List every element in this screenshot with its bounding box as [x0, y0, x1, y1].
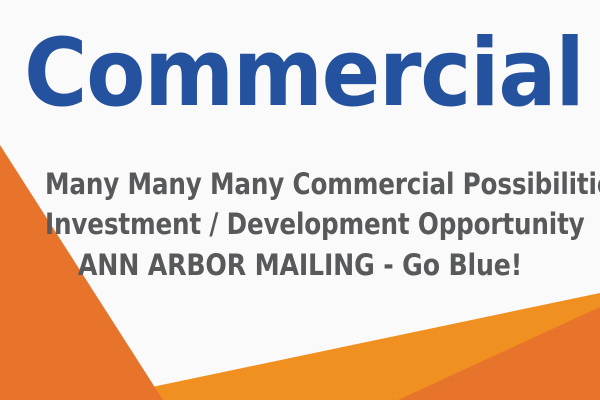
subheading-group: Many Many Many Commercial Possibilities … — [0, 164, 600, 286]
subheading-line-3: ANN ARBOR MAILING - Go Blue! — [39, 244, 561, 286]
subheading-line-1: Many Many Many Commercial Possibilities — [45, 164, 555, 204]
subheading-line-2: Investment / Development Opportunity — [45, 204, 555, 244]
text-content-layer: Commercial Many Many Many Commercial Pos… — [0, 0, 600, 400]
flyer-canvas: Commercial Many Many Many Commercial Pos… — [0, 0, 600, 400]
page-title: Commercial — [24, 24, 576, 124]
